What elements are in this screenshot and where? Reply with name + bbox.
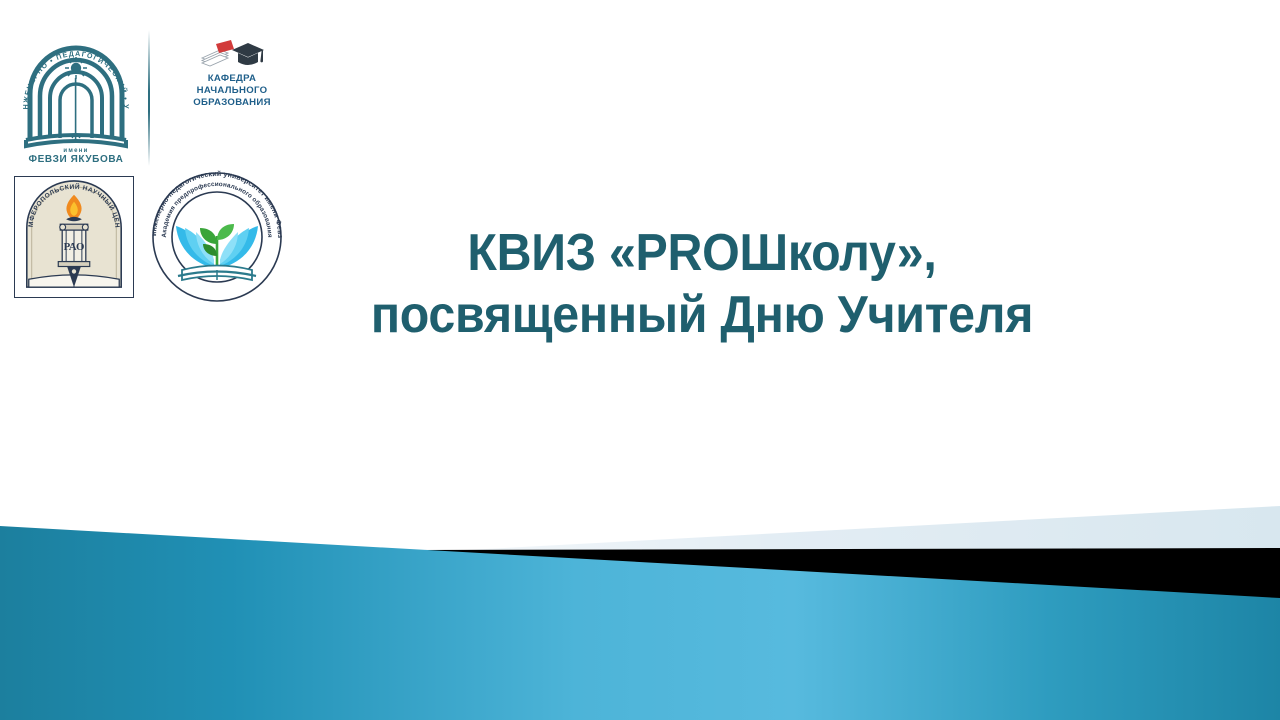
slide-title: КВИЗ «PROШколу», посвященный Дню Учителя: [324, 222, 1079, 346]
kipu-emblem-logo: КРЫМСКИЙ ИНЖЕНЕРНО • ПЕДАГОГИЧЕСКИЙ • УН…: [12, 28, 140, 166]
slide-canvas: КРЫМСКИЙ ИНЖЕНЕРНО • ПЕДАГОГИЧЕСКИЙ • УН…: [0, 0, 1280, 720]
department-line-3: ОБРАЗОВАНИЯ: [176, 97, 288, 109]
bottom-decoration: [0, 470, 1280, 720]
department-line-1: КАФЕДРА: [176, 73, 288, 85]
simferopol-science-center-logo: РАО СИМФЕРОПОЛЬСКИЙ НАУЧНЫЙ ЦЕНТР: [14, 176, 134, 298]
slide-title-line-2: посвященный Дню Учителя: [324, 284, 1079, 346]
department-text: КАФЕДРА НАЧАЛЬНОГО ОБРАЗОВАНИЯ: [176, 73, 288, 110]
department-line-2: НАЧАЛЬНОГО: [176, 85, 288, 97]
slide-title-line-1: КВИЗ «PROШколу»,: [324, 222, 1079, 284]
preprofessional-academy-logo: Крымский инженерно-педагогический универ…: [144, 164, 290, 310]
book-and-graduation-cap-icon: [176, 38, 288, 70]
logo-divider-line: [148, 30, 150, 166]
department-wordmark-logo: КАФЕДРА НАЧАЛЬНОГО ОБРАЗОВАНИЯ: [176, 38, 288, 122]
kipu-name-label: ФЕВЗИ ЯКУБОВА: [29, 154, 124, 165]
logo-group: КРЫМСКИЙ ИНЖЕНЕРНО • ПЕДАГОГИЧЕСКИЙ • УН…: [0, 0, 300, 310]
snc-monogram: РАО: [64, 241, 85, 253]
